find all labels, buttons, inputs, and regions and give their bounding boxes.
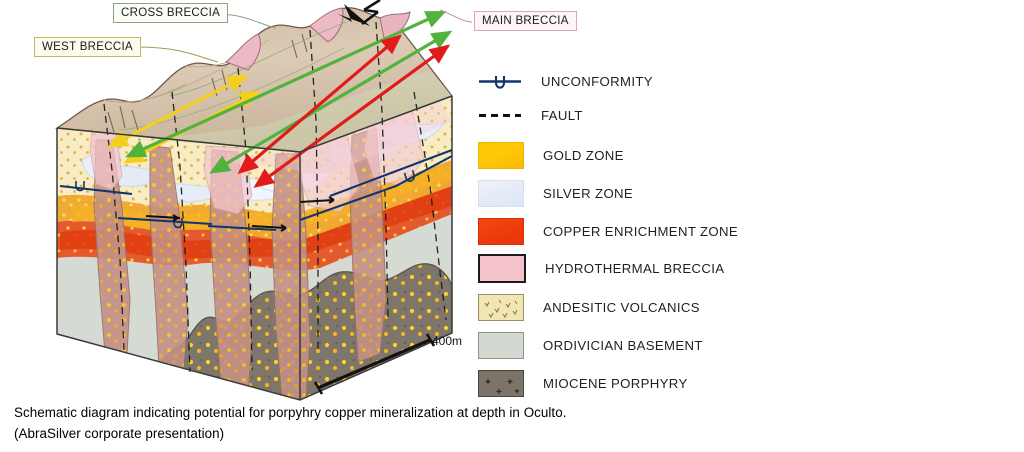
legend-label-fault: FAULT [541, 108, 583, 123]
figure-container: 400m CROSS BRECCIA WEST BRECCIA MAIN BRE… [0, 0, 1024, 452]
callout-main-breccia-label: MAIN BRECCIA [482, 15, 569, 27]
legend-label-gold-zone: GOLD ZONE [543, 148, 624, 163]
legend-label-andesitic-volcanics: ANDESITIC VOLCANICS [543, 300, 700, 315]
legend-item-miocene-porphyry: MIOCENE PORPHYRY [478, 370, 688, 396]
caption-line-1: Schematic diagram indicating potential f… [14, 405, 566, 420]
unconformity-symbol-icon [478, 69, 522, 94]
callout-west-breccia-label: WEST BRECCIA [42, 41, 133, 53]
silver-zone-swatch [478, 180, 524, 207]
legend-item-unconformity: UNCONFORMITY [478, 68, 653, 94]
legend: UNCONFORMITY FAULT GOLD ZONE SILVER ZONE… [478, 62, 878, 402]
legend-item-fault: FAULT [478, 102, 583, 128]
legend-label-copper-zone: COPPER ENRICHMENT ZONE [543, 224, 738, 239]
miocene-porphyry-swatch [478, 370, 524, 397]
ordovician-basement-swatch [478, 332, 524, 359]
callout-cross-breccia: CROSS BRECCIA [113, 3, 228, 23]
legend-item-hydrothermal-breccia: HYDROTHERMAL BRECCIA [478, 255, 724, 281]
andesitic-volcanics-swatch [478, 294, 524, 321]
caption-line-2: (AbraSilver corporate presentation) [14, 426, 224, 441]
legend-item-silver-zone: SILVER ZONE [478, 180, 633, 206]
callout-west-breccia: WEST BRECCIA [34, 37, 141, 57]
legend-label-unconformity: UNCONFORMITY [541, 74, 653, 89]
gold-zone-swatch [478, 142, 524, 169]
legend-item-ordovician-basement: ORDIVICIAN BASEMENT [478, 332, 703, 358]
legend-label-hydrothermal-breccia: HYDROTHERMAL BRECCIA [545, 261, 724, 276]
fault-symbol-icon [478, 103, 522, 128]
legend-item-gold-zone: GOLD ZONE [478, 142, 624, 168]
callout-cross-breccia-label: CROSS BRECCIA [121, 7, 220, 19]
legend-item-copper-zone: COPPER ENRICHMENT ZONE [478, 218, 738, 244]
legend-label-silver-zone: SILVER ZONE [543, 186, 633, 201]
legend-label-ordovician-basement: ORDIVICIAN BASEMENT [543, 338, 703, 353]
hydrothermal-breccia-swatch [478, 254, 526, 283]
callout-main-breccia: MAIN BRECCIA [474, 11, 577, 31]
legend-label-miocene-porphyry: MIOCENE PORPHYRY [543, 376, 688, 391]
legend-item-andesitic-volcanics: ANDESITIC VOLCANICS [478, 294, 700, 320]
copper-zone-swatch [478, 218, 524, 245]
scale-bar-label: 400m [432, 334, 462, 348]
